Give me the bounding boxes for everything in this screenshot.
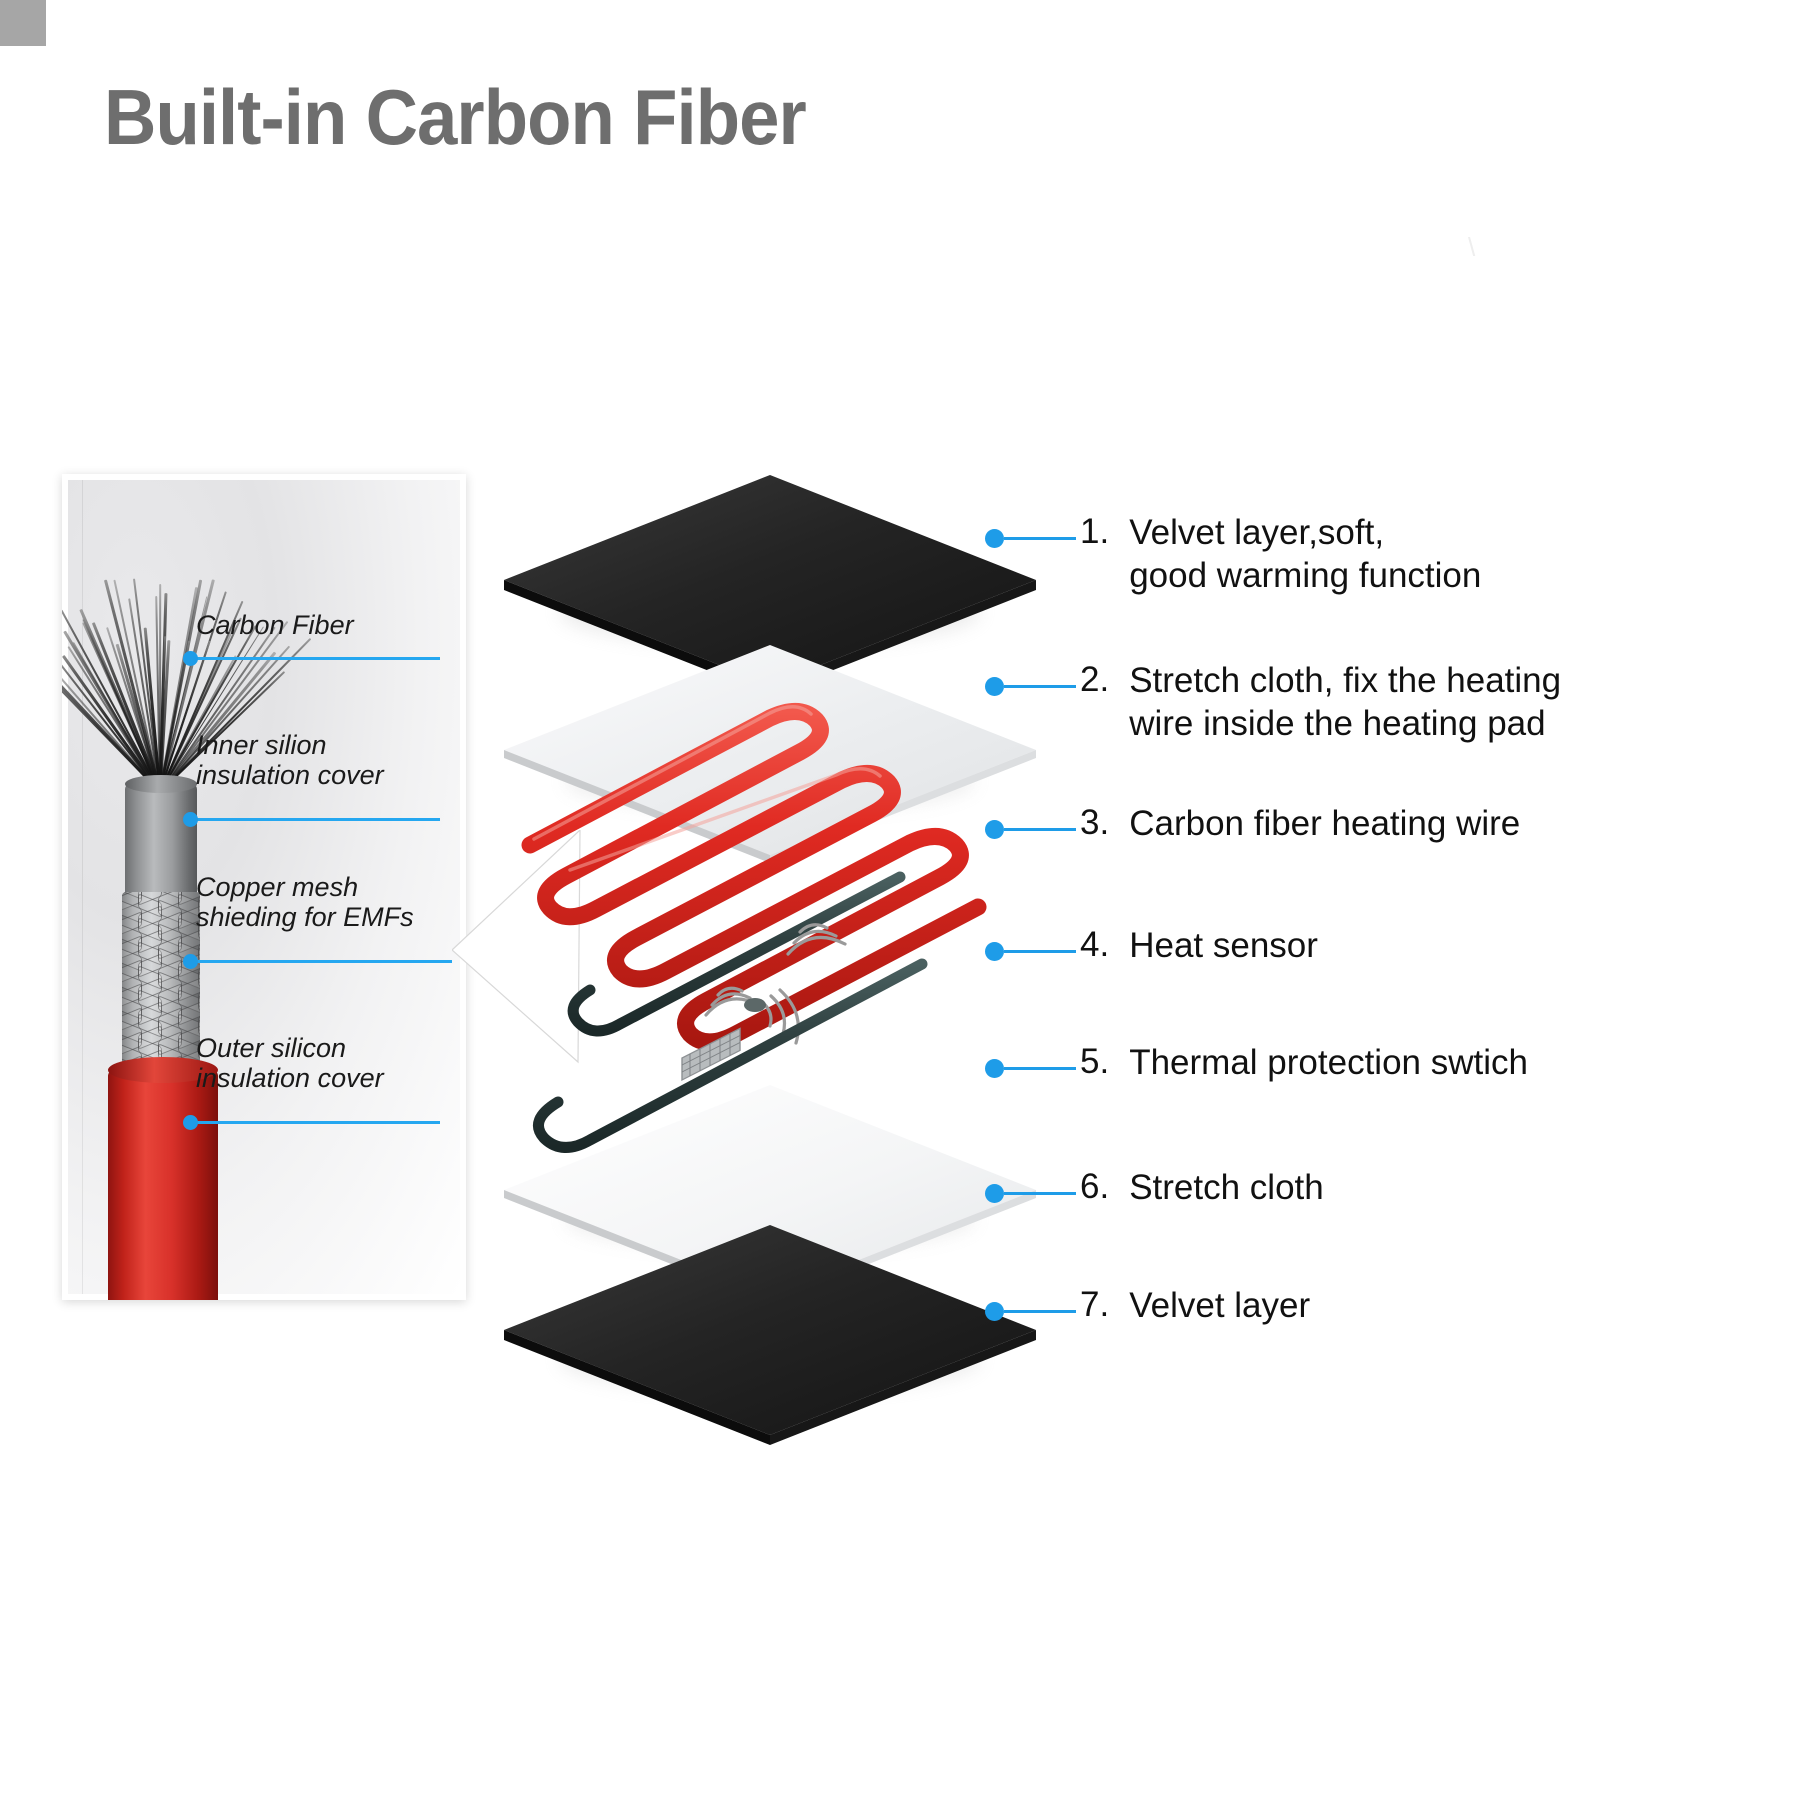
- corner-tab: [0, 0, 46, 46]
- callout-number-7: 7.: [1080, 1285, 1109, 1325]
- cable-dot-outer-silicon: [183, 1115, 198, 1130]
- callout-leader-5: [1004, 1067, 1076, 1070]
- callout-5[interactable]: 5. Thermal protection swtich: [985, 1042, 1528, 1085]
- cable-leader-outer-silicon: [190, 1121, 440, 1124]
- cable-label-carbon-fiber: Carbon Fiber: [196, 610, 354, 640]
- cable-photo: Carbon Fiber Inner silion insulation cov…: [68, 480, 460, 1294]
- callout-leader-6: [1004, 1192, 1076, 1195]
- watermark-mark: \: [1468, 236, 1490, 258]
- callout-4[interactable]: 4. Heat sensor: [985, 925, 1318, 968]
- callout-2[interactable]: 2. Stretch cloth, fix the heating wire i…: [985, 660, 1561, 745]
- callout-dot-5: [985, 1059, 1004, 1078]
- cable-label-inner-silicon: Inner silion insulation cover: [196, 730, 384, 790]
- layer-sheet-velvet-bottom: [504, 1225, 1036, 1445]
- callout-dot-6: [985, 1184, 1004, 1203]
- callout-number-1: 1.: [1080, 512, 1109, 552]
- callout-number-6: 6.: [1080, 1167, 1109, 1207]
- inner-silicon-cover-part: [125, 784, 197, 902]
- cable-leader-inner-silicon: [190, 818, 440, 821]
- cable-dot-copper-mesh: [183, 954, 198, 969]
- callout-leader-7: [1004, 1310, 1076, 1313]
- callout-text-4: Heat sensor: [1129, 925, 1318, 968]
- callout-3[interactable]: 3. Carbon fiber heating wire: [985, 803, 1520, 846]
- cable-cross-section-art: [92, 570, 252, 1300]
- callout-text-6: Stretch cloth: [1129, 1167, 1324, 1210]
- outer-silicon-jacket-part: [108, 1070, 218, 1300]
- callout-6[interactable]: 6. Stretch cloth: [985, 1167, 1324, 1210]
- callout-text-1: Velvet layer,soft, good warming function: [1129, 512, 1481, 597]
- callout-dot-2: [985, 677, 1004, 696]
- callout-number-2: 2.: [1080, 660, 1109, 700]
- callout-text-2: Stretch cloth, fix the heating wire insi…: [1129, 660, 1561, 745]
- callout-7[interactable]: 7. Velvet layer: [985, 1285, 1310, 1328]
- panel-seam: [82, 480, 83, 1294]
- callout-leader-1: [1004, 537, 1076, 540]
- page-title: Built-in Carbon Fiber: [104, 72, 806, 163]
- infographic-page: \ Built-in Carbon Fiber Carbon Fiber Inn…: [0, 0, 1800, 1800]
- callout-dot-3: [985, 820, 1004, 839]
- callout-leader-4: [1004, 950, 1076, 953]
- callout-leader-3: [1004, 828, 1076, 831]
- cable-detail-panel: Carbon Fiber Inner silion insulation cov…: [62, 474, 466, 1300]
- callout-1[interactable]: 1. Velvet layer,soft, good warming funct…: [985, 512, 1481, 597]
- cable-leader-carbon-fiber: [190, 657, 440, 660]
- cable-leader-copper-mesh: [190, 960, 452, 963]
- callout-leader-2: [1004, 685, 1076, 688]
- cable-dot-inner-silicon: [183, 812, 198, 827]
- cable-label-copper-mesh: Copper mesh shieding for EMFs: [196, 872, 414, 932]
- callout-dot-4: [985, 942, 1004, 961]
- callout-dot-1: [985, 529, 1004, 548]
- callout-number-3: 3.: [1080, 803, 1109, 843]
- callout-number-5: 5.: [1080, 1042, 1109, 1082]
- callout-dot-7: [985, 1302, 1004, 1321]
- cable-dot-carbon-fiber: [183, 651, 198, 666]
- layer-sheet-stretch-cloth-upper: [504, 645, 1036, 863]
- callout-text-7: Velvet layer: [1129, 1285, 1310, 1328]
- copper-mesh-braid-part: [122, 892, 200, 1082]
- callout-text-5: Thermal protection swtich: [1129, 1042, 1528, 1085]
- callout-text-3: Carbon fiber heating wire: [1129, 803, 1520, 846]
- callout-number-4: 4.: [1080, 925, 1109, 965]
- cable-label-outer-silicon: Outer silicon insulation cover: [196, 1033, 384, 1093]
